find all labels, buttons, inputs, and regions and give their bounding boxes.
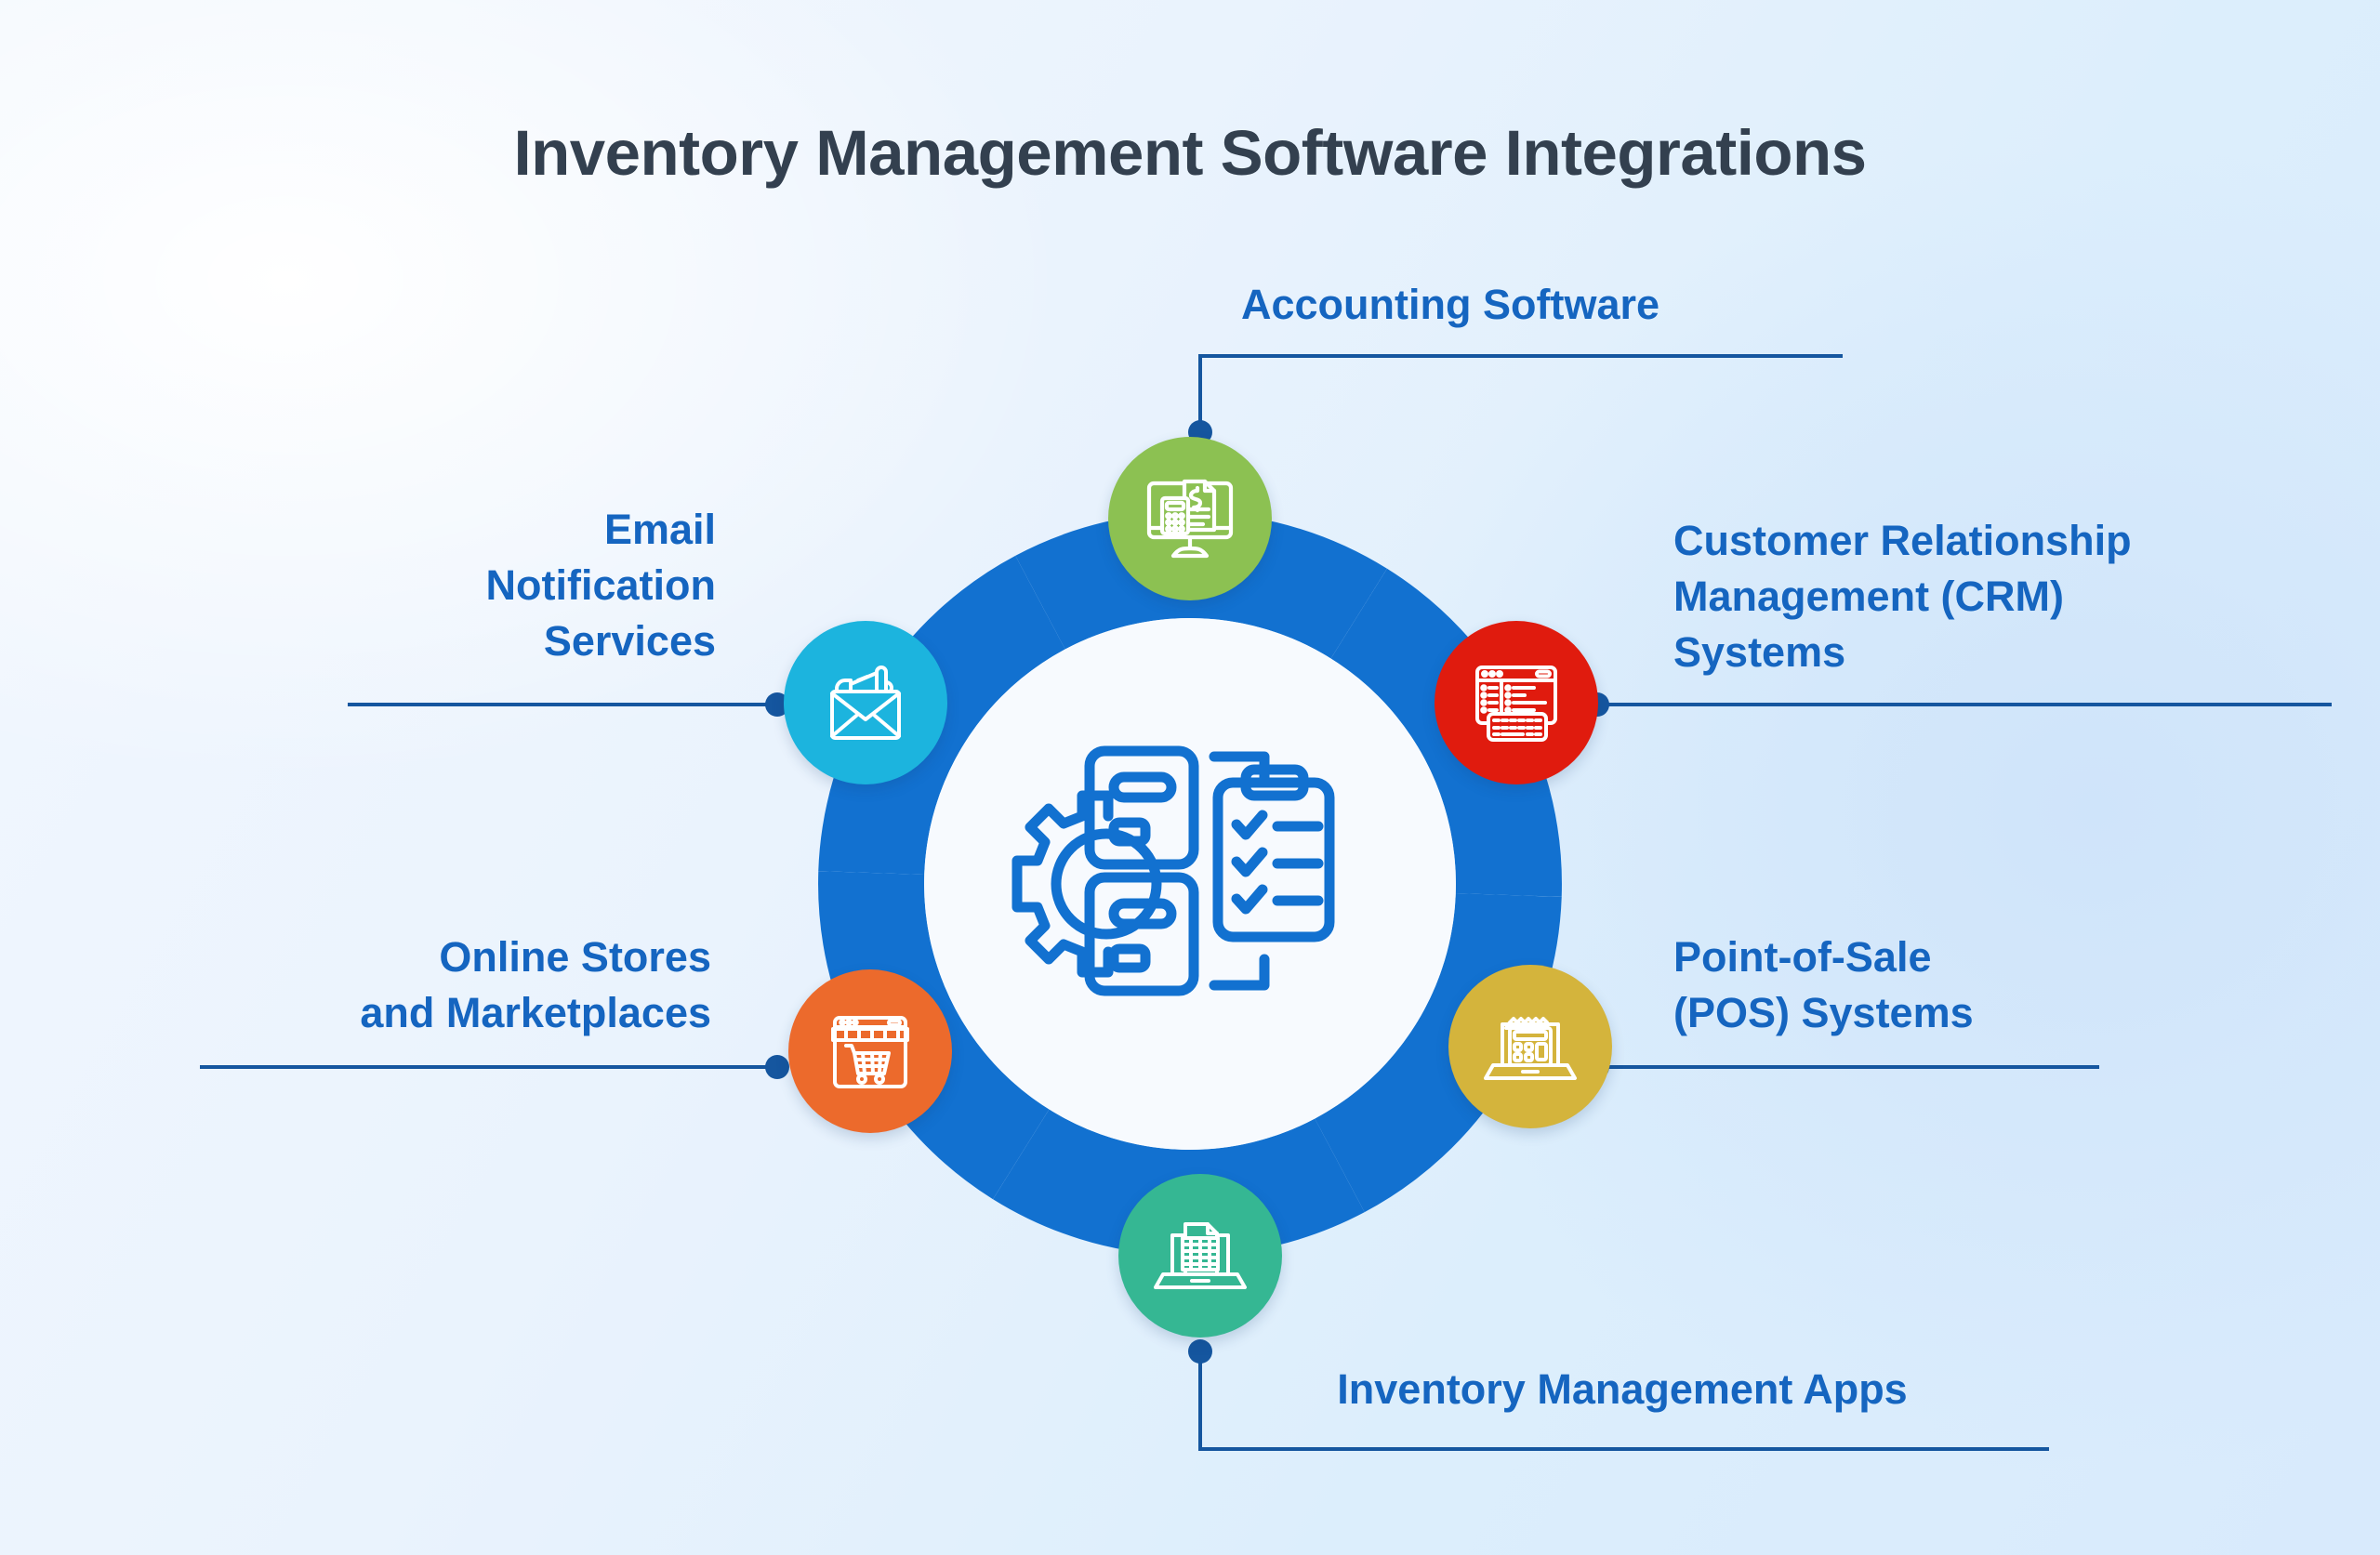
center-inventory-gear-boxes-checklist-icon	[1002, 734, 1378, 1034]
connector-inventory-apps-vertical	[1198, 1349, 1202, 1451]
browser-window-keyboard-icon	[1468, 654, 1565, 751]
node-icon-online-stores[interactable]	[788, 969, 952, 1133]
laptop-spreadsheet-icon	[1152, 1207, 1249, 1304]
label-inventory-management-apps: Inventory Management Apps	[1218, 1362, 2027, 1417]
node-icon-crm-systems[interactable]	[1435, 621, 1598, 784]
connector-inventory-apps-horizontal	[1198, 1447, 2049, 1451]
node-dot-inventory-apps	[1188, 1339, 1212, 1364]
label-accounting-software: Accounting Software	[1088, 277, 1813, 333]
node-icon-email-notification-services[interactable]	[784, 621, 947, 784]
node-icon-inventory-management-apps[interactable]	[1118, 1174, 1282, 1338]
connector-email-horizontal	[348, 703, 777, 706]
storefront-shopping-cart-icon	[822, 1003, 919, 1100]
label-online-stores: Online Stores and Marketplaces	[218, 929, 711, 1041]
cash-register-laptop-icon	[1482, 998, 1579, 1095]
label-email-notification-services: Email Notification Services	[279, 502, 716, 669]
page-title: Inventory Management Software Integratio…	[0, 116, 2380, 190]
connector-crm-horizontal	[1597, 703, 2332, 706]
node-dot-online-stores	[765, 1055, 789, 1079]
connector-pos-horizontal	[1597, 1065, 2099, 1069]
node-icon-accounting-software[interactable]	[1108, 437, 1272, 600]
label-crm-systems: Customer Relationship Management (CRM) S…	[1673, 513, 2250, 680]
envelope-megaphone-icon	[817, 654, 914, 751]
monitor-calculator-invoice-icon	[1142, 470, 1238, 567]
label-pos-systems: Point-of-Sale (POS) Systems	[1673, 929, 2120, 1041]
connector-accounting-horizontal	[1198, 354, 1843, 358]
node-icon-pos-systems[interactable]	[1448, 965, 1612, 1128]
infographic-canvas: Inventory Management Software Integratio…	[0, 0, 2380, 1555]
connector-online-stores-horizontal	[200, 1065, 776, 1069]
